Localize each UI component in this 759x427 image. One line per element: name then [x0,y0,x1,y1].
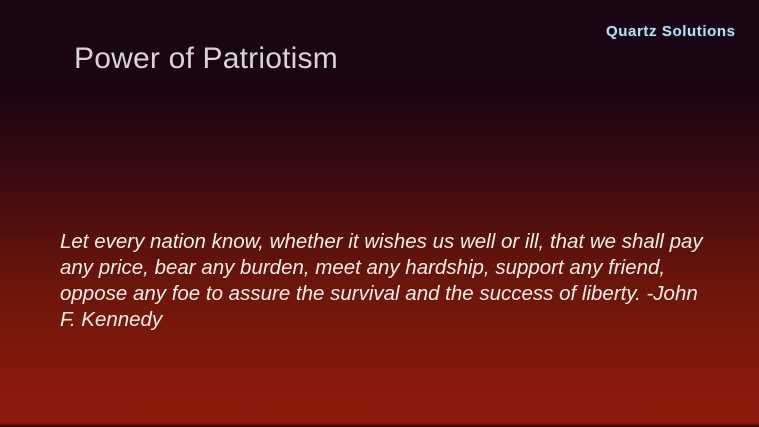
quote-text: Let every nation know, whether it wishes… [60,229,708,333]
page-title: Power of Patriotism [74,40,554,78]
presentation-slide: Power of Patriotism Quartz Solutions Let… [0,0,759,427]
brand-logo: Quartz Solutions [606,23,736,40]
